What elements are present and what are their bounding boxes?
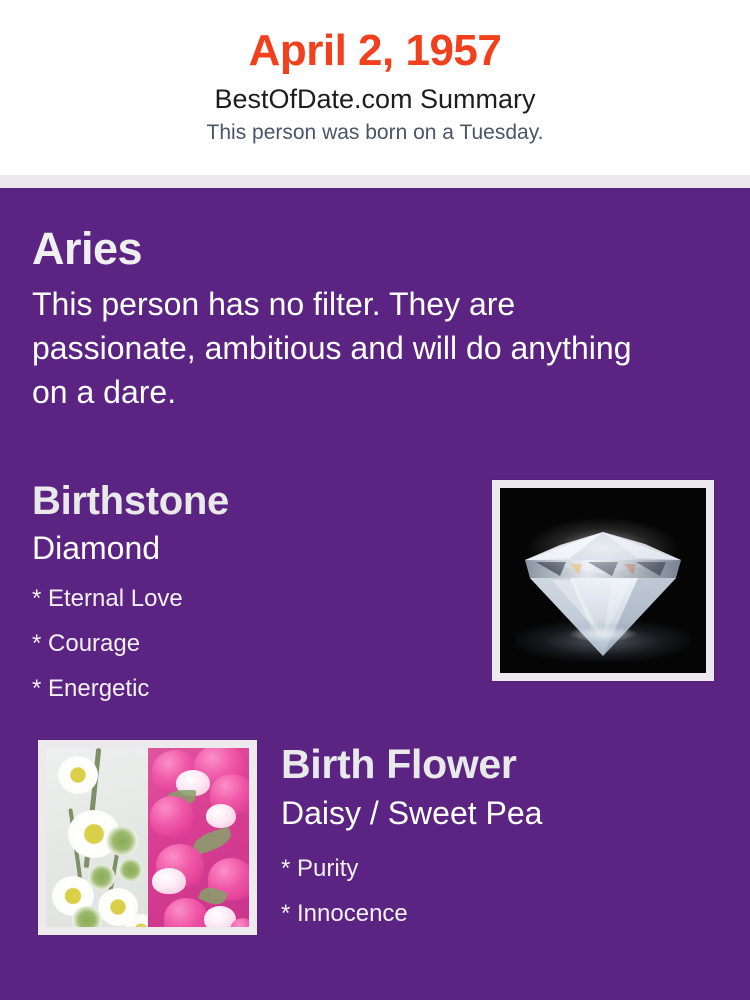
daisy-sweet-pea-photo bbox=[38, 740, 257, 935]
birthstone-heading: Birthstone bbox=[32, 476, 472, 526]
zodiac-description: This person has no filter. They are pass… bbox=[32, 282, 652, 414]
diamond-image bbox=[500, 488, 706, 673]
zodiac-section: Aries This person has no filter. They ar… bbox=[32, 222, 722, 414]
card-header: April 2, 1957 BestOfDate.com Summary Thi… bbox=[0, 0, 750, 175]
diamond-reflection bbox=[516, 620, 691, 662]
list-item: * Courage bbox=[32, 621, 472, 666]
birthstone-name: Diamond bbox=[32, 528, 472, 568]
list-item: * Purity bbox=[281, 846, 731, 891]
diamond-glow bbox=[528, 518, 678, 578]
birth-flower-section: Birth Flower Daisy / Sweet Pea * Purity … bbox=[281, 738, 731, 936]
list-item: * Eternal Love bbox=[32, 576, 472, 621]
list-item: * Innocence bbox=[281, 891, 731, 936]
diamond-photo bbox=[492, 480, 714, 681]
birthstone-traits-list: * Eternal Love * Courage * Energetic bbox=[32, 576, 472, 711]
sweet-pea-half bbox=[148, 748, 250, 927]
site-subtitle: BestOfDate.com Summary bbox=[0, 80, 750, 118]
header-divider bbox=[0, 175, 750, 188]
flower-image bbox=[46, 748, 249, 927]
summary-card: April 2, 1957 BestOfDate.com Summary Thi… bbox=[0, 0, 750, 1000]
list-item: * Energetic bbox=[32, 666, 472, 711]
birth-flower-heading: Birth Flower bbox=[281, 738, 731, 790]
page-title: April 2, 1957 bbox=[0, 22, 750, 80]
zodiac-sign-name: Aries bbox=[32, 222, 722, 276]
born-day-text: This person was born on a Tuesday. bbox=[0, 118, 750, 148]
birth-flower-traits-list: * Purity * Innocence bbox=[281, 846, 731, 936]
birth-flower-name: Daisy / Sweet Pea bbox=[281, 792, 731, 834]
birthstone-section: Birthstone Diamond * Eternal Love * Cour… bbox=[32, 476, 472, 711]
daisy-half bbox=[46, 748, 148, 927]
